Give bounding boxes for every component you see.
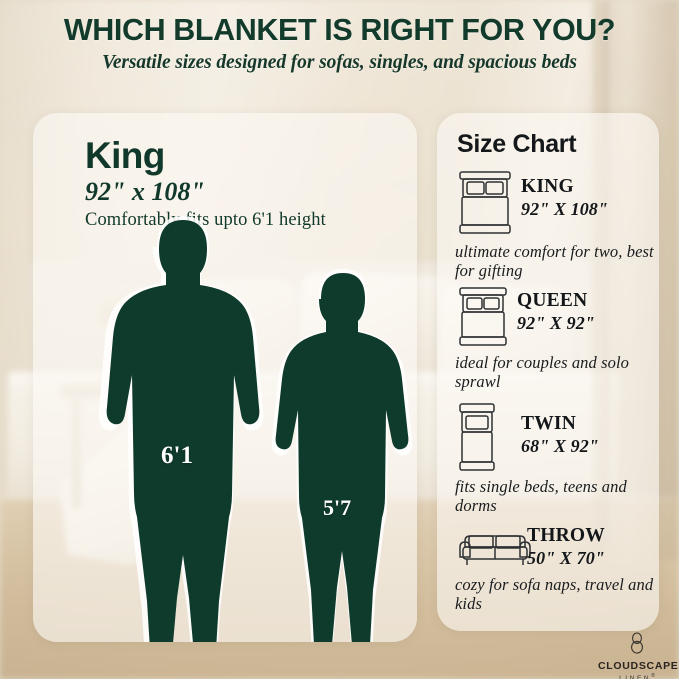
header: WHICH BLANKET IS RIGHT FOR YOU? Versatil…: [0, 14, 679, 74]
short-person-silhouette: [272, 269, 413, 642]
sofa-icon: [457, 527, 533, 569]
size-chart-desc-queen: ideal for couples and solo sprawl: [455, 353, 659, 391]
brand-logo: CLOUDSCAPE LINEN®: [598, 632, 676, 679]
size-chart-desc-king: ultimate comfort for two, best for gifti…: [455, 242, 659, 280]
double-bed-icon: [457, 168, 513, 238]
infinity-loop-monogram-icon: [598, 632, 676, 654]
size-chart-name-king: KING: [521, 176, 574, 198]
brand-name: CLOUDSCAPE: [598, 660, 676, 672]
size-chart-desc-throw: cozy for sofa naps, travel and kids: [455, 575, 659, 613]
single-bed-icon: [457, 401, 497, 473]
size-chart-dim-king: 92" X 108": [521, 199, 608, 220]
size-chart-name-throw: THROW: [527, 525, 605, 547]
size-chart-name-queen: QUEEN: [517, 290, 587, 312]
king-size-panel: King 92" x 108" Comfortably fits upto 6'…: [33, 113, 417, 642]
page-title: WHICH BLANKET IS RIGHT FOR YOU?: [0, 14, 679, 46]
short-person-height-label: 5'7: [323, 495, 351, 521]
brand-tagline: LINEN®: [598, 673, 676, 679]
double-bed-icon: [457, 285, 509, 349]
tall-person-height-label: 6'1: [161, 442, 193, 470]
size-chart-title: Size Chart: [457, 130, 576, 159]
size-chart-dim-twin: 68" X 92": [521, 436, 599, 457]
size-chart-dim-throw: 50" X 70": [527, 548, 605, 569]
tall-person-silhouette: [99, 216, 264, 642]
size-chart-name-twin: TWIN: [521, 413, 576, 435]
height-comparison-figures: [33, 113, 417, 642]
page-subtitle: Versatile sizes designed for sofas, sing…: [0, 52, 679, 74]
size-chart-panel: Size Chart KING 92" X 108" ultimate comf…: [437, 113, 659, 631]
brand-tagline-text: LINEN: [619, 675, 651, 679]
size-chart-dim-queen: 92" X 92": [517, 313, 595, 334]
size-chart-desc-twin: fits single beds, teens and dorms: [455, 477, 659, 515]
trademark-symbol: ®: [651, 673, 655, 679]
